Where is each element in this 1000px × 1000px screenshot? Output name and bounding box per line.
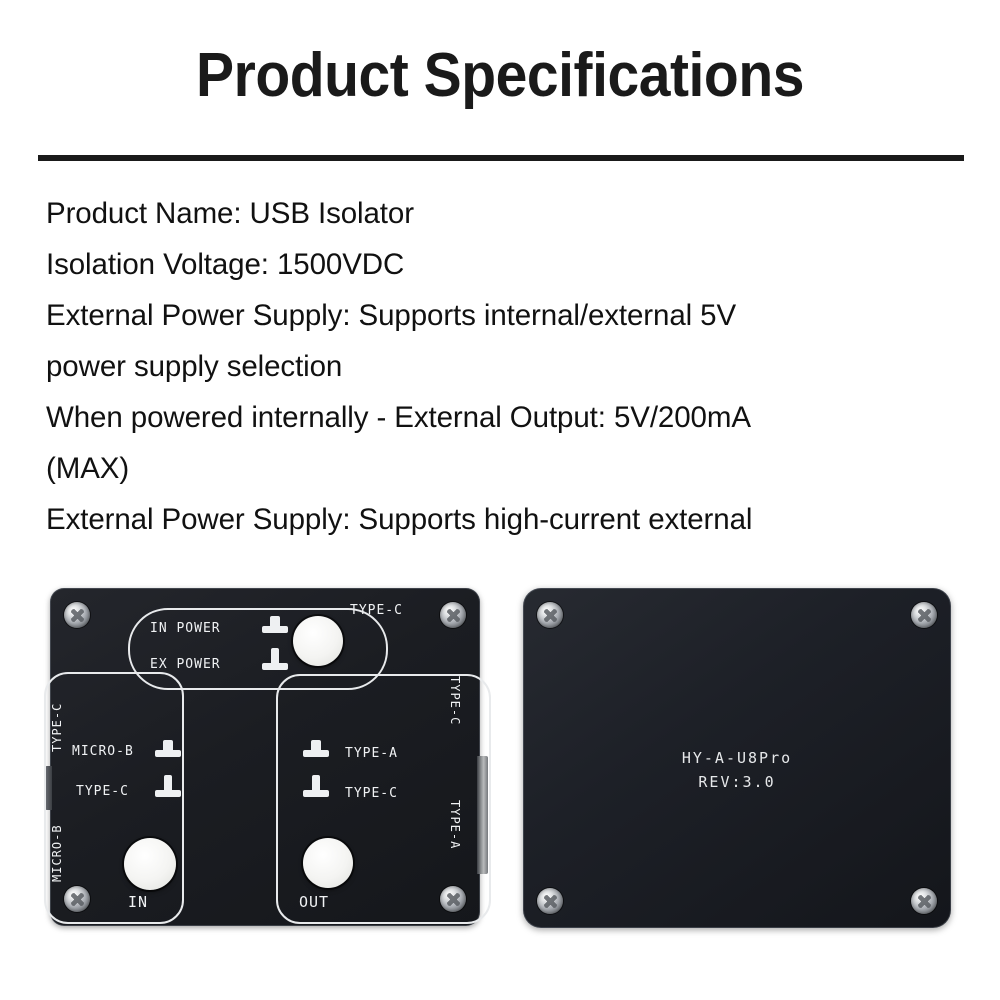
output-select-pad: [303, 838, 353, 888]
silk-label-ex-power: EX POWER: [150, 657, 221, 672]
silk-label-micro-b-left-vertical: MICRO-B: [50, 824, 64, 882]
type-c-input-jumper-icon: [155, 775, 181, 797]
silk-label-micro-b-row: MICRO-B: [72, 744, 134, 759]
enclosure-revision-text: REV:3.0: [523, 770, 951, 794]
screw-top-right: [440, 602, 466, 628]
silk-label-type-c-row: TYPE-C: [76, 784, 129, 799]
silk-label-type-a-right-vertical: TYPE-A: [448, 800, 462, 849]
enclosure-model-label: HY-A-U8Pro REV:3.0: [523, 746, 951, 794]
spec-line: When powered internally - External Outpu…: [46, 392, 956, 443]
type-a-output-jumper-icon: [303, 740, 329, 757]
spec-line: (MAX): [46, 443, 956, 494]
micro-b-jumper-icon: [155, 740, 181, 757]
silk-label-type-c-top-right: TYPE-C: [350, 603, 403, 618]
ex-power-jumper-icon: [262, 648, 288, 670]
micro-b-edge-connector: [45, 766, 52, 810]
in-power-jumper-icon: [262, 616, 288, 633]
type-c-output-jumper-icon: [303, 775, 329, 797]
enclosure-screw-bottom-left: [537, 888, 563, 914]
silk-label-type-c-left-vertical: TYPE-C: [50, 703, 64, 752]
power-select-pad: [293, 616, 343, 666]
enclosure-image: HY-A-U8Pro REV:3.0: [523, 588, 951, 928]
spec-line: External Power Supply: Supports high-cur…: [46, 494, 956, 545]
pcb-board-image: IN POWER EX POWER TYPE-C MICRO-B TYPE-C …: [50, 588, 480, 926]
title-divider: [38, 155, 964, 161]
silk-label-type-a-output: TYPE-A: [345, 746, 398, 761]
spec-line: power supply selection: [46, 341, 956, 392]
enclosure-screw-top-left: [537, 602, 563, 628]
usb-a-edge-connector: [477, 756, 488, 874]
screw-top-left: [64, 602, 90, 628]
spec-line: Isolation Voltage: 1500VDC: [46, 239, 956, 290]
silk-label-out: OUT: [299, 893, 329, 911]
spec-line: Product Name: USB Isolator: [46, 188, 956, 239]
specification-list: Product Name: USB Isolator Isolation Vol…: [46, 188, 956, 545]
enclosure-model-text: HY-A-U8Pro: [523, 746, 951, 770]
enclosure-screw-top-right: [911, 602, 937, 628]
enclosure-screw-bottom-right: [911, 888, 937, 914]
input-select-pad: [124, 838, 176, 890]
silk-label-type-c-right-vertical: TYPE-C: [448, 676, 462, 725]
screw-bottom-left: [64, 886, 90, 912]
screw-bottom-right: [440, 886, 466, 912]
page-title: Product Specifications: [40, 40, 960, 111]
silk-label-in-power: IN POWER: [150, 621, 221, 636]
silk-label-in: IN: [128, 893, 148, 911]
spec-line: External Power Supply: Supports internal…: [46, 290, 956, 341]
silk-label-type-c-output: TYPE-C: [345, 786, 398, 801]
